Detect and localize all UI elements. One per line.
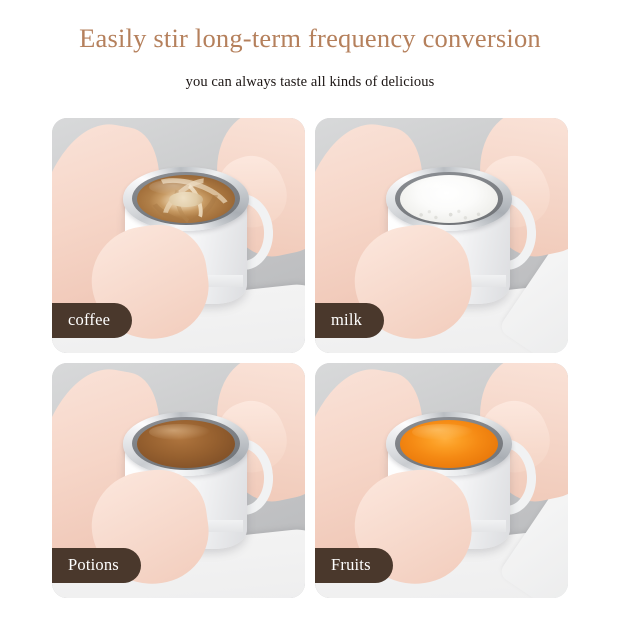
photo-cell-coffee[interactable]: coffee [52,118,305,353]
liquid-surface-milk [400,175,498,223]
liquid-sheen [412,424,473,440]
photo-label-coffee: coffee [52,303,132,339]
photo-label-milk: milk [315,303,384,339]
header: Easily stir long-term frequency conversi… [0,0,620,91]
mug-inner-ring [132,172,240,225]
photo-label-potions: Potions [52,548,141,584]
mug-steel-rim [123,167,250,230]
photo-cell-fruits[interactable]: Fruits [315,363,568,598]
product-photo-grid: coffee [52,118,568,598]
liquid-surface-juice [400,420,498,468]
mug-steel-rim [386,167,513,230]
liquid-surface-coffee [137,175,235,223]
page-subheadline: you can always taste all kinds of delici… [0,53,620,91]
mug-inner-ring [395,172,503,225]
mug-steel-rim [386,412,513,475]
liquid-sheen [149,424,210,440]
photo-cell-milk[interactable]: milk [315,118,568,353]
mug-inner-ring [132,417,240,470]
liquid-surface-tea [137,420,235,468]
mug-steel-rim [123,412,250,475]
liquid-sheen [149,179,210,195]
milk-bubbles [408,205,490,221]
liquid-sheen [412,179,473,195]
photo-label-fruits: Fruits [315,548,393,584]
page-headline: Easily stir long-term frequency conversi… [0,24,620,53]
photo-cell-potions[interactable]: Potions [52,363,305,598]
mug-inner-ring [395,417,503,470]
